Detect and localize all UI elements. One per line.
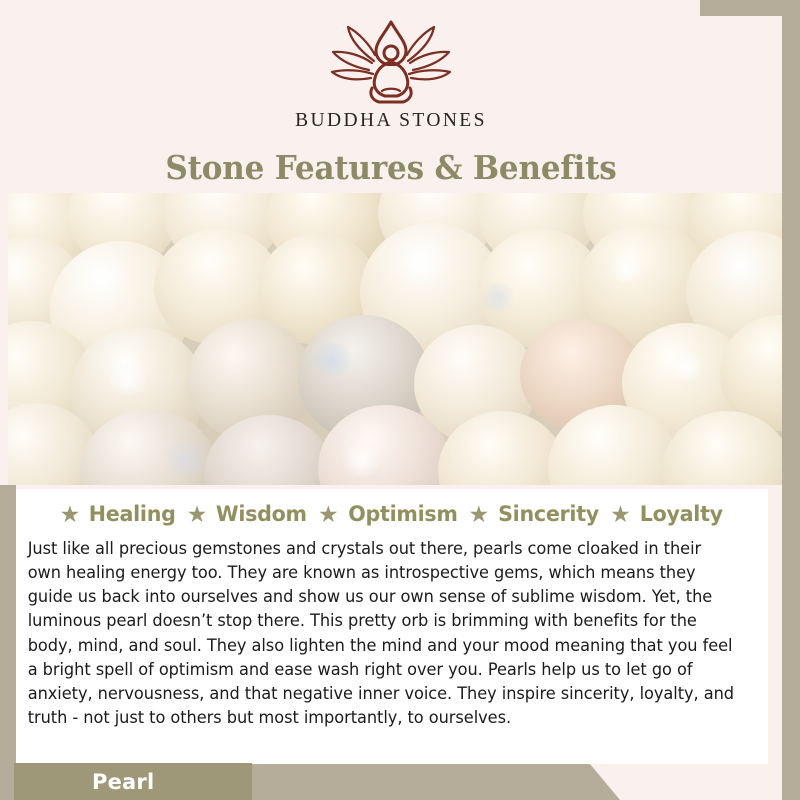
- benefit-item-loyalty: ★ Loyalty: [610, 502, 724, 527]
- benefits-list: ★ Healing ★ Wisdom ★ Optimism ★ Sincerit…: [16, 489, 768, 533]
- star-icon: ★: [610, 503, 631, 526]
- benefit-label: Healing: [89, 502, 176, 527]
- left-khaki-bar: [0, 485, 16, 800]
- description-paragraph: Just like all precious gemstones and cry…: [16, 533, 749, 730]
- star-icon: ★: [468, 503, 489, 526]
- title-band: Stone Features & Benefits: [0, 141, 782, 193]
- benefit-label: Wisdom: [216, 502, 307, 527]
- right-khaki-bar: [782, 0, 800, 800]
- pearl-photo: [8, 193, 784, 485]
- benefit-item-optimism: ★ Optimism: [318, 502, 460, 527]
- page-title: Stone Features & Benefits: [165, 148, 616, 187]
- benefit-label: Sincerity: [498, 502, 599, 527]
- top-right-khaki-bar: [700, 0, 800, 16]
- brand-logo: BUDDHA STONES: [0, 18, 782, 132]
- content-panel: ★ Healing ★ Wisdom ★ Optimism ★ Sincerit…: [16, 489, 768, 772]
- header-section: BUDDHA STONES Stone Features & Benefits: [0, 0, 782, 193]
- star-icon: ★: [187, 503, 208, 526]
- stone-name-label: Pearl: [92, 770, 154, 794]
- benefit-item-sincerity: ★ Sincerity: [468, 502, 601, 527]
- benefit-item-healing: ★ Healing: [60, 502, 178, 527]
- star-icon: ★: [60, 503, 81, 526]
- benefit-label: Loyalty: [640, 502, 723, 527]
- benefit-label: Optimism: [348, 502, 457, 527]
- photo-caption-bar: Pearl: [14, 763, 252, 800]
- brand-name: BUDDHA STONES: [295, 110, 487, 132]
- star-icon: ★: [318, 503, 339, 526]
- benefit-item-wisdom: ★ Wisdom: [187, 502, 309, 527]
- lotus-meditation-icon: [326, 18, 456, 106]
- infographic-page: BUDDHA STONES Stone Features & Benefits: [0, 0, 800, 800]
